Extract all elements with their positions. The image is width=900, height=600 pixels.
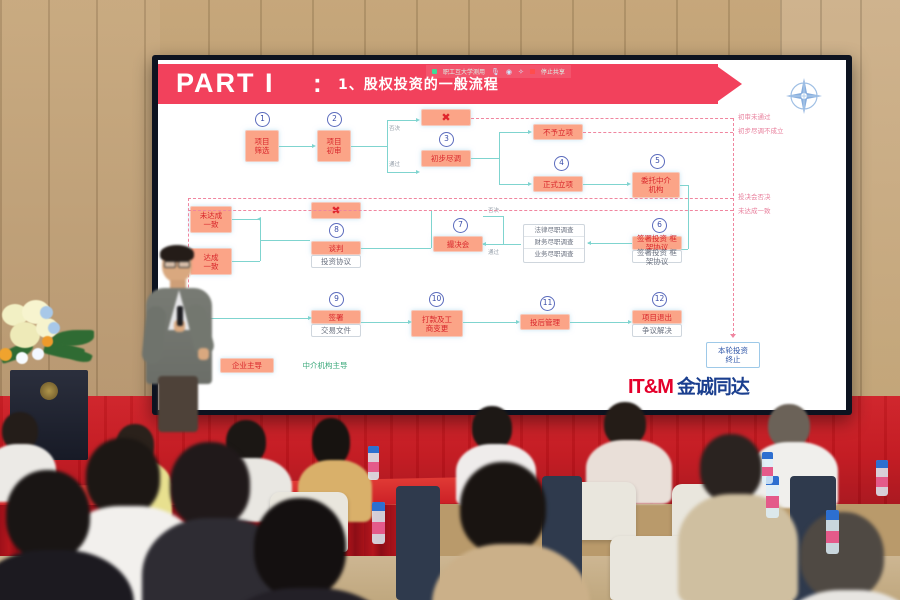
dd-item: 法律尽职调查	[524, 225, 584, 237]
edge-label: 否决	[389, 124, 400, 132]
screen-share-toolbar[interactable]: 职工互大学测用 🎙 ◉ ✧ 停止共享	[426, 65, 571, 78]
step-number: 4	[554, 156, 569, 171]
step-number: 10	[429, 292, 444, 307]
dd-item: 业务尽职调查	[524, 249, 584, 260]
exit-note: 投决会否决	[738, 191, 771, 201]
step-number: 11	[540, 296, 555, 311]
stop-share-icon[interactable]	[530, 69, 535, 74]
step-number: 8	[329, 223, 344, 238]
stop-share-label[interactable]: 停止共享	[541, 67, 565, 76]
banner-arrow-shape	[714, 64, 742, 104]
podium-emblem-icon	[40, 382, 58, 400]
step-number: 1	[255, 112, 270, 127]
conference-scene: PART I : 1、股权投资的一般流程 职工互大学测用 🎙 ◉ ✧ 停止共享	[0, 0, 900, 600]
flow-node-11: 投后管理	[520, 314, 570, 330]
flow-node-12: 项目退出	[632, 310, 682, 324]
firm-logo: IT&M金诚同达	[628, 372, 749, 399]
flow-node-no-approval: 不予立项	[533, 124, 583, 140]
edge-label: 通过	[389, 160, 400, 168]
handheld-microphone	[177, 306, 183, 326]
step-number: 2	[327, 112, 342, 127]
flow-node-5: 委托中介 机构	[632, 172, 680, 198]
step-number: 9	[329, 292, 344, 307]
step-number: 5	[650, 154, 665, 169]
presentation-display: PART I : 1、股权投资的一般流程 职工互大学测用 🎙 ◉ ✧ 停止共享	[158, 60, 846, 410]
due-diligence-stack: 法律尽职调查 财务尽职调查 业务尽职调查	[523, 224, 585, 263]
step-number: 6	[652, 218, 667, 233]
flow-node-12-sub: 争议解决	[632, 324, 682, 337]
flow-node-1: 项目 筛选	[245, 130, 279, 162]
firm-logo-latin: IT&M	[628, 376, 673, 398]
glasses-icon	[164, 261, 176, 268]
slide-canvas: PART I : 1、股权投资的一般流程 职工互大学测用 🎙 ◉ ✧ 停止共享	[158, 60, 846, 410]
part-label: PART I	[176, 69, 275, 97]
flow-node-4: 正式立项	[533, 176, 583, 192]
exit-note: 未达成一致	[738, 205, 771, 215]
sharing-indicator-icon	[432, 69, 437, 74]
edge-label: 通过	[488, 248, 499, 256]
gear-icon[interactable]: ✧	[518, 68, 524, 76]
flow-node-9: 签署	[311, 310, 361, 324]
flow-node-reject-1: ✖	[421, 109, 471, 126]
flow-node-3: 初步尽调	[421, 150, 471, 167]
water-bottle	[762, 452, 773, 484]
exit-note: 初审未通过	[738, 111, 771, 121]
flow-node-9-sub: 交易文件	[311, 324, 361, 337]
chair-back	[396, 486, 440, 600]
water-bottle	[876, 460, 888, 496]
water-bottle	[368, 446, 379, 480]
exit-note: 初步尽调不成立	[738, 125, 784, 135]
camera-icon[interactable]: ◉	[506, 68, 512, 76]
microphone-icon[interactable]: 🎙	[491, 68, 500, 76]
presenter	[134, 248, 220, 428]
water-bottle	[826, 510, 839, 554]
flow-node-7: 撮决会	[433, 236, 483, 252]
step-number: 12	[652, 292, 667, 307]
flow-node-6-sub: 签署投资 框架协议	[632, 250, 682, 263]
banner-colon: :	[313, 68, 322, 99]
reject-x-icon: ✖	[441, 113, 450, 123]
water-bottle	[372, 502, 385, 544]
legend-enterprise-led: 企业主导	[220, 358, 274, 373]
share-session-label: 职工互大学测用	[443, 67, 485, 76]
flow-node-terminate: 本轮投资 终止	[706, 342, 760, 368]
dd-item: 财务尽职调查	[524, 237, 584, 249]
step-number: 3	[439, 132, 454, 147]
flow-node-10: 打款及工 商变更	[411, 310, 463, 337]
flow-node-2: 项目 初审	[317, 130, 351, 162]
step-number: 7	[453, 218, 468, 233]
flowchart: 1 项目 筛选 2 项目 初审 否决 通过 ✖ 3 初步尽调	[158, 106, 846, 406]
legend-intermediary-led: 中介机构主导	[288, 358, 362, 373]
flow-node-8-sub: 投资协议	[311, 255, 361, 268]
flower-arrangement	[0, 296, 102, 382]
flow-node-8: 谈判	[311, 241, 361, 255]
firm-logo-chinese: 金诚同达	[677, 377, 749, 398]
